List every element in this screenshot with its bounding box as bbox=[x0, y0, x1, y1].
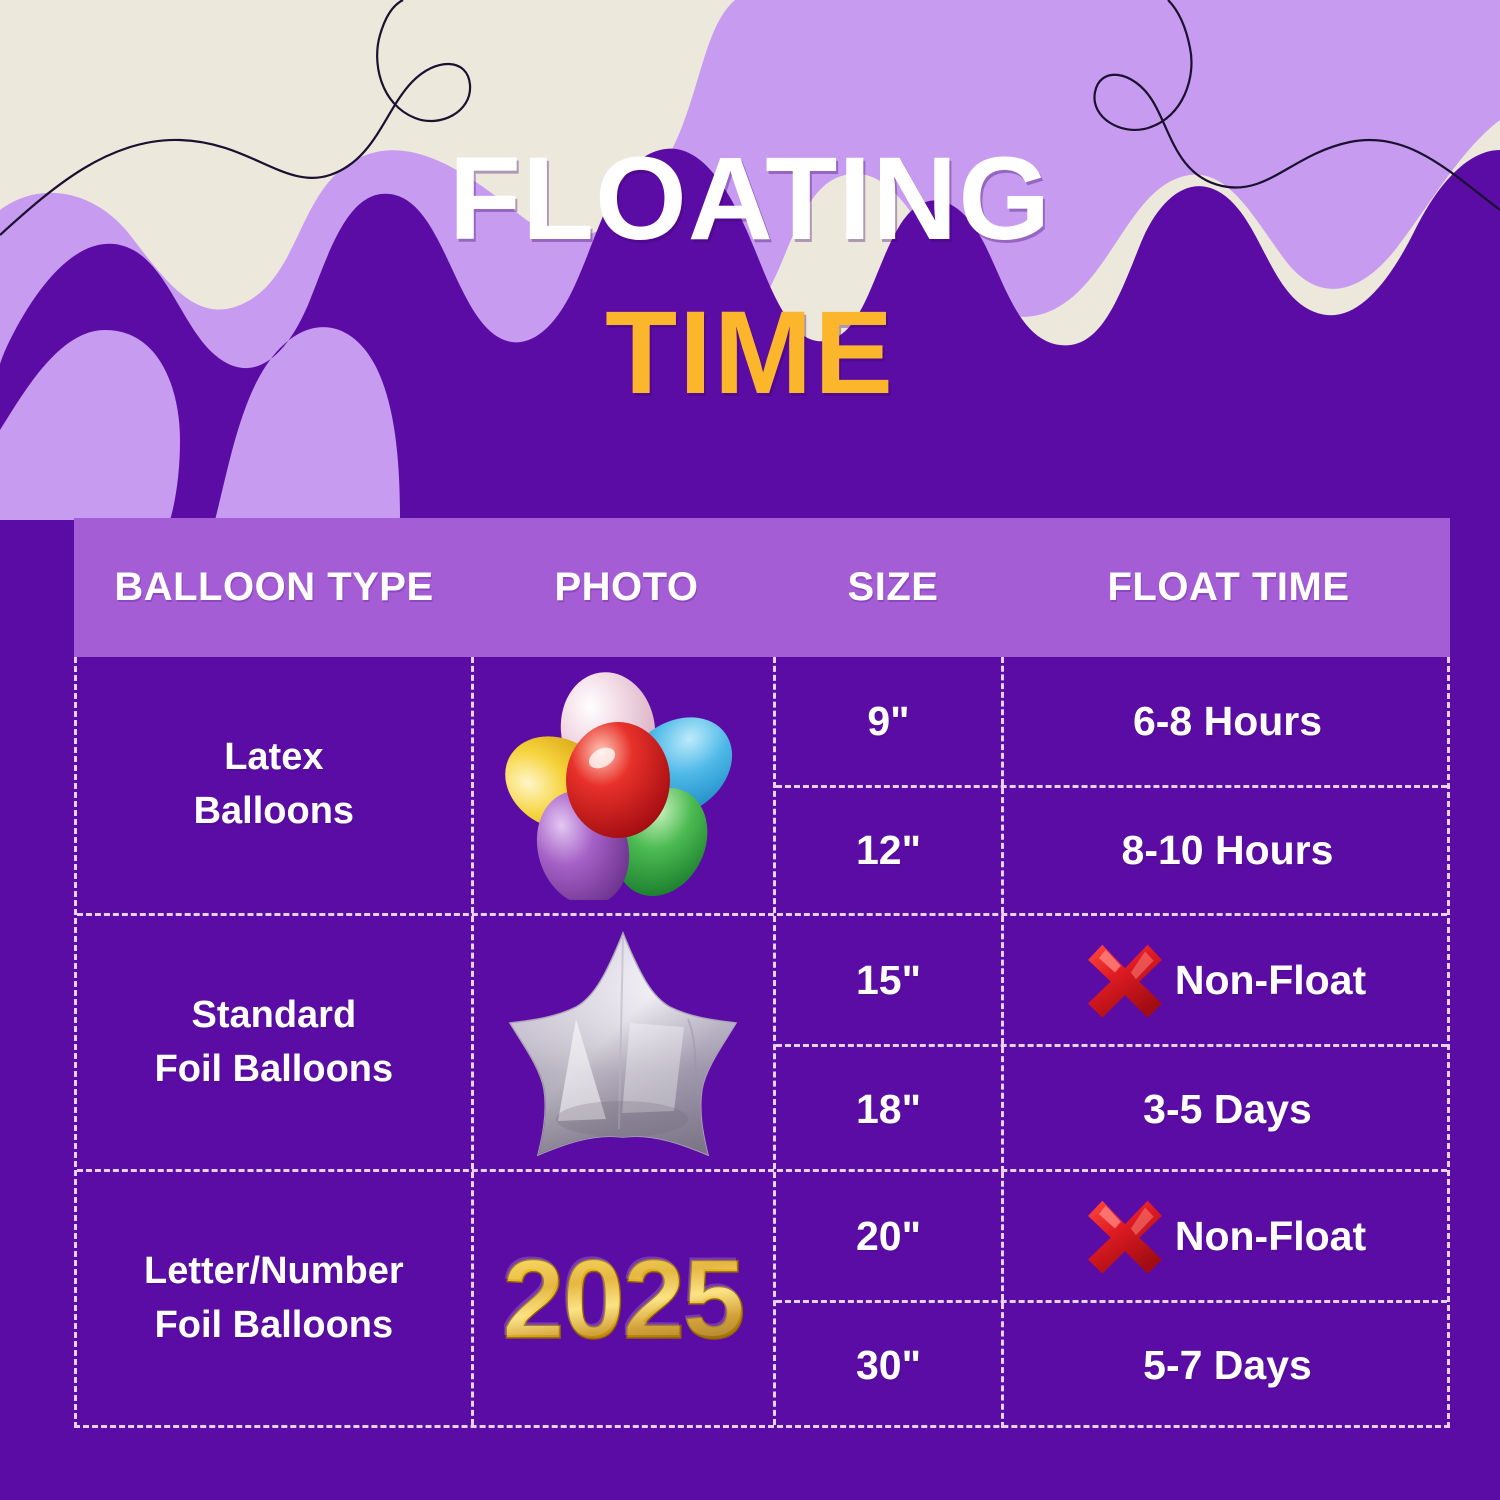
cell-size: 30" bbox=[776, 1303, 1004, 1428]
table-row: Latex Balloons bbox=[77, 657, 1447, 913]
size-float-pair: 20" Non-Float bbox=[776, 1172, 1447, 1300]
size-label: 18" bbox=[856, 1086, 921, 1133]
size-float-pair: 30" 5-7 Days bbox=[776, 1300, 1447, 1428]
balloon-type-label: Standard Foil Balloons bbox=[155, 989, 394, 1097]
float-time-label: Non-Float bbox=[1175, 957, 1366, 1004]
float-time-table: BALLOON TYPE PHOTO SIZE FLOAT TIME Latex… bbox=[74, 518, 1450, 1428]
size-float-pair: 15" bbox=[776, 916, 1447, 1044]
poster-title: FLOATING TIME bbox=[0, 140, 1500, 412]
cell-float-time: 6-8 Hours bbox=[1004, 657, 1447, 785]
cell-size: 18" bbox=[776, 1047, 1004, 1172]
non-float-cross-icon bbox=[1083, 938, 1167, 1022]
size-float-pairs: 9" 6-8 Hours 12" 8-10 Hours bbox=[776, 657, 1447, 913]
latex-balloon-cluster-photo bbox=[498, 670, 748, 900]
table-row: Standard Foil Balloons bbox=[77, 913, 1447, 1169]
cell-photo bbox=[474, 916, 776, 1169]
cell-size: 12" bbox=[776, 788, 1004, 913]
cell-size: 9" bbox=[776, 657, 1004, 785]
balloon-type-label: Latex Balloons bbox=[194, 731, 354, 839]
size-label: 9" bbox=[867, 698, 909, 745]
table-header-row: BALLOON TYPE PHOTO SIZE FLOAT TIME bbox=[74, 518, 1450, 657]
cell-float-time: Non-Float bbox=[1004, 916, 1447, 1044]
silver-foil-star-balloon-photo bbox=[498, 923, 748, 1163]
balloon-number-highlight: 2025 bbox=[501, 1234, 742, 1359]
gold-2025-number-foil-balloons-photo: 2025 2025 bbox=[484, 1234, 762, 1364]
float-time-label: 5-7 Days bbox=[1143, 1342, 1312, 1389]
cell-size: 15" bbox=[776, 916, 1004, 1044]
size-float-pair: 18" 3-5 Days bbox=[776, 1044, 1447, 1172]
column-header-photo: PHOTO bbox=[474, 565, 779, 610]
balloon-type-label: Letter/Number Foil Balloons bbox=[144, 1245, 404, 1353]
cell-float-time: 3-5 Days bbox=[1004, 1047, 1447, 1172]
size-label: 20" bbox=[856, 1213, 921, 1260]
floating-time-infographic: FLOATING TIME BALLOON TYPE PHOTO SIZE FL… bbox=[0, 0, 1500, 1500]
non-float-cross-icon bbox=[1083, 1194, 1167, 1278]
size-float-pair: 9" 6-8 Hours bbox=[776, 657, 1447, 785]
float-time-label: Non-Float bbox=[1175, 1213, 1366, 1260]
cell-balloon-type: Letter/Number Foil Balloons bbox=[77, 1172, 474, 1425]
size-label: 12" bbox=[856, 827, 921, 874]
cell-photo bbox=[474, 657, 776, 913]
cell-balloon-type: Standard Foil Balloons bbox=[77, 916, 474, 1169]
cell-float-time: 8-10 Hours bbox=[1004, 788, 1447, 913]
cell-float-time: Non-Float bbox=[1004, 1172, 1447, 1300]
column-header-size: SIZE bbox=[779, 565, 1007, 610]
size-label: 30" bbox=[856, 1342, 921, 1389]
column-header-float-time: FLOAT TIME bbox=[1007, 565, 1450, 610]
cell-float-time: 5-7 Days bbox=[1004, 1303, 1447, 1428]
size-label: 15" bbox=[856, 957, 921, 1004]
table-body: Latex Balloons bbox=[74, 657, 1450, 1428]
size-float-pair: 12" 8-10 Hours bbox=[776, 785, 1447, 913]
float-time-label: 8-10 Hours bbox=[1122, 827, 1334, 874]
title-line-floating: FLOATING bbox=[0, 140, 1500, 258]
float-time-label: 6-8 Hours bbox=[1133, 698, 1322, 745]
cell-balloon-type: Latex Balloons bbox=[77, 657, 474, 913]
cell-photo: 2025 2025 bbox=[474, 1172, 776, 1425]
table-row: Letter/Number Foil Balloons bbox=[77, 1169, 1447, 1425]
float-time-label: 3-5 Days bbox=[1143, 1086, 1312, 1133]
column-header-balloon-type: BALLOON TYPE bbox=[74, 565, 474, 610]
cell-size: 20" bbox=[776, 1172, 1004, 1300]
size-float-pairs: 20" Non-Float 30" bbox=[776, 1172, 1447, 1425]
title-line-time: TIME bbox=[0, 294, 1500, 412]
size-float-pairs: 15" bbox=[776, 916, 1447, 1169]
